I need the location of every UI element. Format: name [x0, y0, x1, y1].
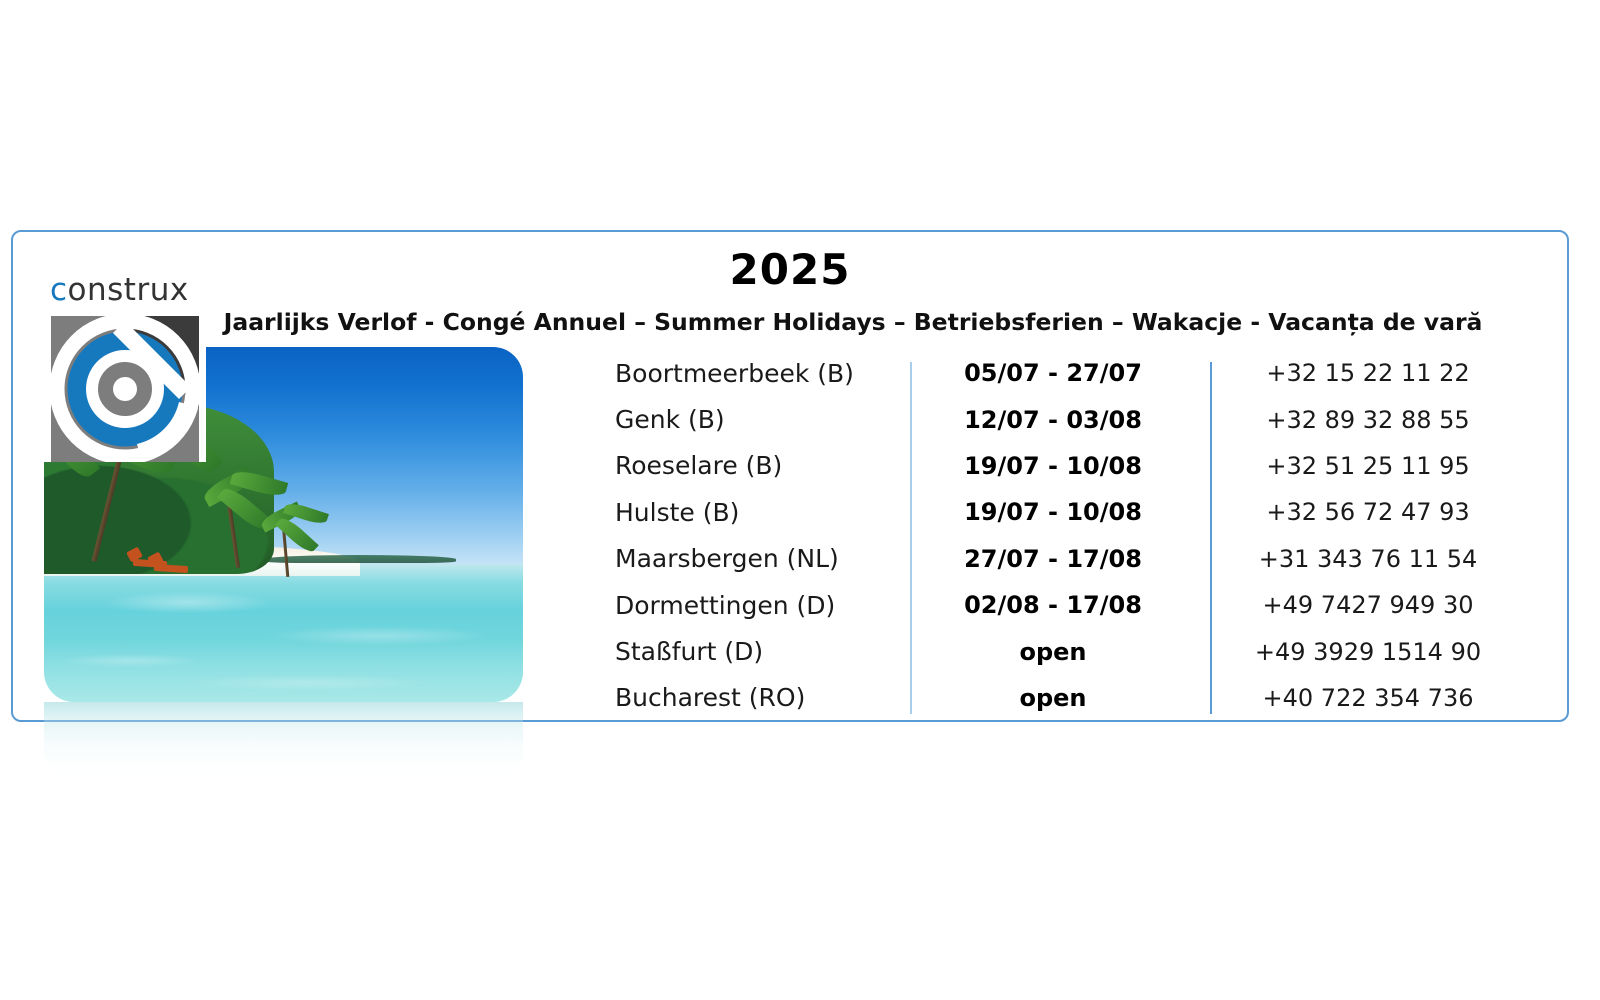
water-shimmer	[44, 564, 523, 702]
cell-city: Bucharest (RO)	[603, 683, 903, 712]
table-row: Bucharest (RO) open +40 722 354 736	[603, 675, 1533, 721]
table-row: Staßfurt (D) open +49 3929 1514 90	[603, 628, 1533, 674]
cell-phone: +31 343 76 11 54	[1203, 545, 1533, 573]
cell-city: Roeselare (B)	[603, 451, 903, 480]
cell-dates: 02/08 - 17/08	[903, 591, 1203, 619]
cell-city: Maarsbergen (NL)	[603, 544, 903, 573]
cell-dates: 12/07 - 03/08	[903, 406, 1203, 434]
page-title-year: 2025	[13, 245, 1567, 294]
cell-phone: +32 89 32 88 55	[1203, 406, 1533, 434]
cell-phone: +49 7427 949 30	[1203, 591, 1533, 619]
subtitle-multilingual: Jaarlijks Verlof - Congé Annuel – Summer…	[203, 308, 1503, 336]
table-row: Roeselare (B) 19/07 - 10/08 +32 51 25 11…	[603, 443, 1533, 489]
logo-wordmark-accent-c: c	[50, 272, 68, 308]
cell-phone: +32 15 22 11 22	[1203, 359, 1533, 387]
cell-city: Staßfurt (D)	[603, 637, 903, 666]
cell-city: Boortmeerbeek (B)	[603, 359, 903, 388]
cell-phone: +40 722 354 736	[1203, 684, 1533, 712]
table-row: Hulste (B) 19/07 - 10/08 +32 56 72 47 93	[603, 489, 1533, 535]
table-row: Maarsbergen (NL) 27/07 - 17/08 +31 343 7…	[603, 536, 1533, 582]
holiday-announcement-card: 2025 Jaarlijks Verlof - Congé Annuel – S…	[11, 230, 1569, 722]
cell-city: Dormettingen (D)	[603, 591, 903, 620]
cell-dates: 05/07 - 27/07	[903, 359, 1203, 387]
logo-wordmark-rest: onstrux	[68, 272, 189, 308]
cell-dates: open	[903, 684, 1203, 712]
cell-city: Hulste (B)	[603, 498, 903, 527]
cell-phone: +49 3929 1514 90	[1203, 638, 1533, 666]
cell-phone: +32 56 72 47 93	[1203, 498, 1533, 526]
photo-reflection	[44, 702, 523, 780]
holiday-table: Boortmeerbeek (B) 05/07 - 27/07 +32 15 2…	[603, 350, 1533, 721]
logo-mark-icon	[51, 316, 199, 462]
cell-city: Genk (B)	[603, 405, 903, 434]
table-row: Genk (B) 12/07 - 03/08 +32 89 32 88 55	[603, 396, 1533, 442]
table-row: Boortmeerbeek (B) 05/07 - 27/07 +32 15 2…	[603, 350, 1533, 396]
construx-logo: construx	[44, 272, 206, 462]
logo-wordmark: construx	[50, 272, 189, 308]
cell-dates: 19/07 - 10/08	[903, 452, 1203, 480]
cell-dates: 19/07 - 10/08	[903, 498, 1203, 526]
page-root: 2025 Jaarlijks Verlof - Congé Annuel – S…	[0, 0, 1600, 1000]
table-row: Dormettingen (D) 02/08 - 17/08 +49 7427 …	[603, 582, 1533, 628]
cell-phone: +32 51 25 11 95	[1203, 452, 1533, 480]
cell-dates: 27/07 - 17/08	[903, 545, 1203, 573]
cell-dates: open	[903, 638, 1203, 666]
distant-island	[264, 555, 456, 564]
